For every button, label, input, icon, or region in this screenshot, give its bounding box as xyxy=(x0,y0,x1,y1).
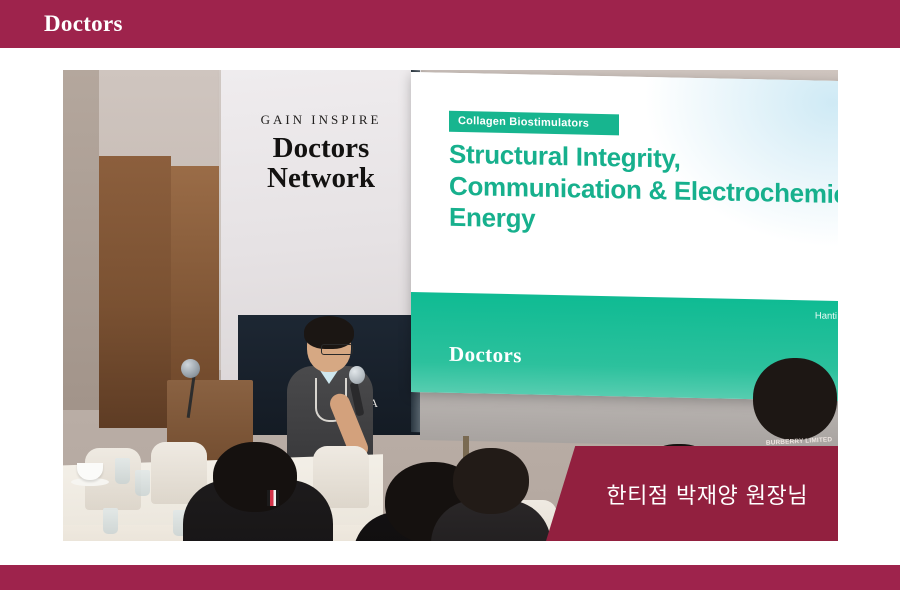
attendee-badge-ribbon xyxy=(267,490,279,506)
audience-member-head xyxy=(453,448,529,514)
event-photo: GAIN INSPIRE Doctors Network GALDERMA LA… xyxy=(63,70,838,541)
slide-topic-badge: Collagen Biostimulators xyxy=(449,111,619,136)
slide-upper-area: Collagen Biostimulators Structural Integ… xyxy=(411,72,838,302)
banner-line-1: Doctors xyxy=(221,130,421,166)
wall-wood-column xyxy=(99,156,171,428)
wall-panel-left xyxy=(63,70,99,410)
banner-line-2: Network xyxy=(221,162,421,195)
water-glass xyxy=(115,458,130,484)
slide-meta-org: Hanti DOCTORS xyxy=(815,309,838,325)
speaker-nameplate: 한티점 박재양 원장님 xyxy=(546,446,838,541)
slide-meta-block: Hanti DOCTORS JYP 2024.06.22 xyxy=(815,309,838,353)
projection-screen: Collagen Biostimulators Structural Integ… xyxy=(411,72,838,402)
audience-member-head xyxy=(753,358,837,440)
handheld-microphone-head-icon xyxy=(349,366,365,384)
speaker-name-label: 한티점 박재양 원장님 xyxy=(606,478,808,510)
brand-title: Doctors xyxy=(44,11,123,37)
banner-tagline: GAIN INSPIRE xyxy=(221,112,421,128)
microphone-stand-head-icon xyxy=(181,359,200,378)
bottom-brand-bar xyxy=(0,565,900,590)
slide-logo: Doctors xyxy=(449,342,522,369)
slide-meta-date: 2024.06.22 xyxy=(815,338,838,354)
slide-title: Structural Integrity, Communication & El… xyxy=(449,139,838,243)
speaker-glasses xyxy=(321,344,353,355)
top-brand-bar: Doctors xyxy=(0,0,900,48)
audience-member-head xyxy=(213,442,297,512)
water-glass xyxy=(135,470,150,496)
water-glass xyxy=(103,508,118,534)
